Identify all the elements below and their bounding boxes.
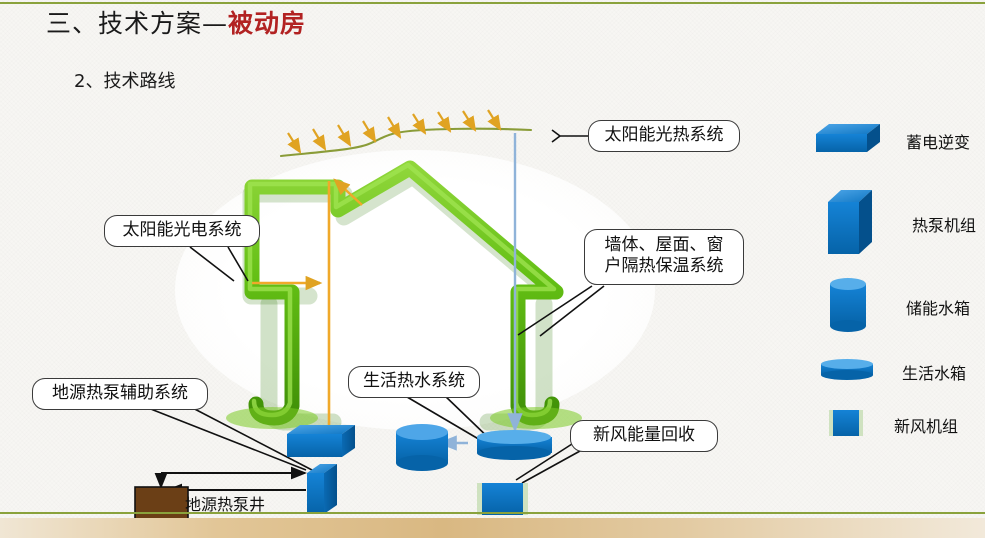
callout-solar-pv[interactable]: 太阳能光电系统 [104, 215, 260, 247]
tall-box-icon [822, 186, 878, 262]
storage-tank-cylinder-icon [396, 424, 448, 471]
footer-band [0, 518, 985, 538]
legend-label-fresh-air-unit: 新风机组 [894, 413, 958, 437]
legend-item-heat-pump[interactable]: 热泵机组 [822, 186, 976, 262]
callout-domestic-hot-water[interactable]: 生活热水系统 [348, 366, 480, 398]
callout-solar-pv-label: 太阳能光电系统 [123, 220, 242, 240]
legend-item-fresh-air-unit[interactable]: 新风机组 [824, 406, 958, 444]
inverter-box-icon [287, 425, 355, 457]
legend-label-storage-tank: 储能水箱 [906, 295, 970, 319]
fresh-air-unit-icon [477, 483, 528, 515]
callout-envelope-insulation[interactable]: 墙体、屋面、窗 户隔热保温系统 [584, 229, 744, 285]
bottom-divider-rule [0, 512, 985, 514]
legend-label-domestic-tank: 生活水箱 [902, 360, 966, 384]
callout-envelope-line1: 墙体、屋面、窗 [594, 235, 734, 256]
callout-solar-thermal-label: 太阳能光热系统 [605, 125, 724, 145]
legend-item-storage-tank[interactable]: 储能水箱 [824, 274, 970, 340]
sun-rays-icon [288, 110, 500, 152]
callout-envelope-line2: 户隔热保温系统 [594, 256, 734, 277]
legend-item-domestic-tank[interactable]: 生活水箱 [816, 356, 966, 388]
flat-box-icon [812, 120, 884, 162]
callout-ground-source-aux[interactable]: 地源热泵辅助系统 [32, 378, 208, 410]
callout-solar-thermal[interactable]: 太阳能光热系统 [588, 120, 740, 152]
air-handler-icon [824, 406, 868, 444]
flat-disc-icon [816, 356, 878, 388]
slide-canvas: 三、技术方案—被动房 2、技术路线 [0, 0, 985, 538]
legend-label-heat-pump: 热泵机组 [912, 212, 976, 236]
callout-fresh-air-recovery-label: 新风能量回收 [593, 425, 695, 445]
diagram-vector-layer [0, 0, 985, 538]
callout-domestic-hot-water-label: 生活热水系统 [363, 371, 465, 391]
heat-pump-unit-icon [307, 464, 337, 514]
ground-source-well-icon [135, 487, 188, 519]
hot-water-disc-icon [477, 430, 552, 460]
callout-ground-source-aux-label: 地源热泵辅助系统 [52, 383, 188, 403]
solar-collector-curve [281, 129, 531, 156]
legend-label-battery-inverter: 蓄电逆变 [906, 129, 970, 153]
callout-fresh-air-recovery[interactable]: 新风能量回收 [570, 420, 718, 452]
legend-item-battery-inverter[interactable]: 蓄电逆变 [812, 120, 970, 162]
tall-cylinder-icon [824, 274, 872, 340]
